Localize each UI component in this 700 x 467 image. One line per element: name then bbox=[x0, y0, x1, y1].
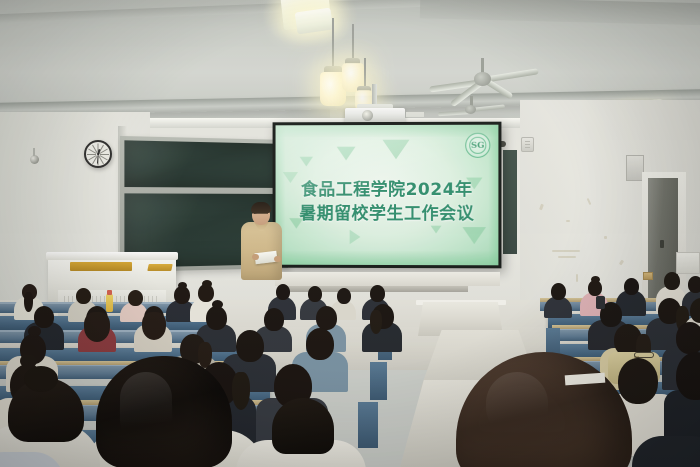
projection-screen: SG 食品工程学院2024年 暑期留校学生工作会议 bbox=[273, 122, 502, 269]
student-hair-bun bbox=[28, 326, 41, 337]
teaching-console-top bbox=[46, 252, 178, 260]
phone-icon bbox=[596, 296, 605, 309]
foreground-student-hair-sheen-brown bbox=[486, 372, 548, 438]
student-head bbox=[337, 288, 351, 304]
wall-clock bbox=[84, 140, 112, 168]
student-head bbox=[128, 290, 143, 306]
student-hair-bun bbox=[202, 280, 212, 288]
student-head bbox=[206, 306, 227, 330]
student-ponytail bbox=[24, 292, 33, 312]
student-head bbox=[316, 306, 337, 330]
student-head bbox=[236, 330, 264, 362]
student-head bbox=[34, 306, 54, 328]
student-head bbox=[551, 283, 566, 300]
blackboard-sheen-upper bbox=[124, 140, 284, 188]
clock-face bbox=[86, 142, 110, 166]
console-wood-panel bbox=[70, 262, 132, 271]
student-head bbox=[76, 288, 91, 304]
aisle-desk-end-left-3 bbox=[358, 402, 378, 448]
ceiling-fan-hub-2 bbox=[465, 105, 476, 114]
student-long-hair bbox=[142, 312, 166, 340]
wall-stain-marks bbox=[530, 190, 640, 290]
student-head bbox=[688, 276, 700, 293]
student-ponytail bbox=[232, 372, 250, 410]
student-head bbox=[306, 328, 334, 360]
stage-wall-trim bbox=[275, 272, 500, 286]
lecture-hall-photo: SG 食品工程学院2024年 暑期留校学生工作会议 bbox=[0, 0, 700, 467]
student-ponytail bbox=[370, 310, 382, 334]
water-bottle-cap-icon bbox=[107, 290, 112, 295]
slide-glare bbox=[276, 125, 499, 266]
student-head bbox=[624, 278, 639, 295]
student-head bbox=[370, 285, 385, 302]
pendant-rod-1 bbox=[332, 18, 334, 68]
blackboard-right-sliver bbox=[503, 150, 517, 254]
student-head bbox=[664, 272, 680, 290]
wall-speaker bbox=[521, 137, 534, 152]
foreground-student-bun bbox=[24, 366, 58, 392]
student-hair-bun bbox=[212, 300, 223, 309]
light-switch-plate[interactable] bbox=[643, 272, 653, 280]
blackboard-upper-panel bbox=[124, 140, 284, 188]
presenter-glasses-icon bbox=[254, 213, 268, 216]
door-handle-icon[interactable] bbox=[660, 240, 664, 248]
console-wood-panel-side bbox=[147, 264, 172, 271]
pendant-rod-2 bbox=[352, 24, 354, 60]
water-bottle bbox=[106, 294, 113, 312]
student-head bbox=[276, 284, 290, 300]
student-head bbox=[308, 286, 322, 302]
pendant-rod-3 bbox=[364, 58, 366, 88]
speaker-grill bbox=[525, 141, 530, 148]
student-long-hair bbox=[84, 312, 110, 342]
projector-side-bracket bbox=[406, 112, 424, 117]
presenter-right-hand bbox=[274, 256, 281, 262]
student-head bbox=[264, 308, 284, 331]
student-head bbox=[618, 358, 658, 404]
foreground-student-head bbox=[272, 398, 334, 454]
aisle-desk-end-left-2 bbox=[370, 362, 387, 400]
projector-lens-icon bbox=[362, 110, 373, 121]
ceiling-fan-hub-1 bbox=[474, 72, 491, 86]
wall-cabinet bbox=[676, 252, 700, 274]
presenter-left-hand bbox=[252, 254, 259, 260]
student-glasses-icon bbox=[634, 352, 654, 358]
ceiling-camera-mount bbox=[33, 148, 35, 156]
presentation-slide: SG 食品工程学院2024年 暑期留校学生工作会议 bbox=[276, 125, 499, 266]
student-hair-bun bbox=[178, 282, 187, 289]
foreground-student-hair-sheen bbox=[120, 372, 172, 446]
student-head bbox=[676, 322, 700, 354]
ceiling-camera-icon bbox=[30, 155, 39, 164]
student-hair-bun bbox=[591, 276, 600, 283]
presenter-hair bbox=[251, 202, 271, 213]
